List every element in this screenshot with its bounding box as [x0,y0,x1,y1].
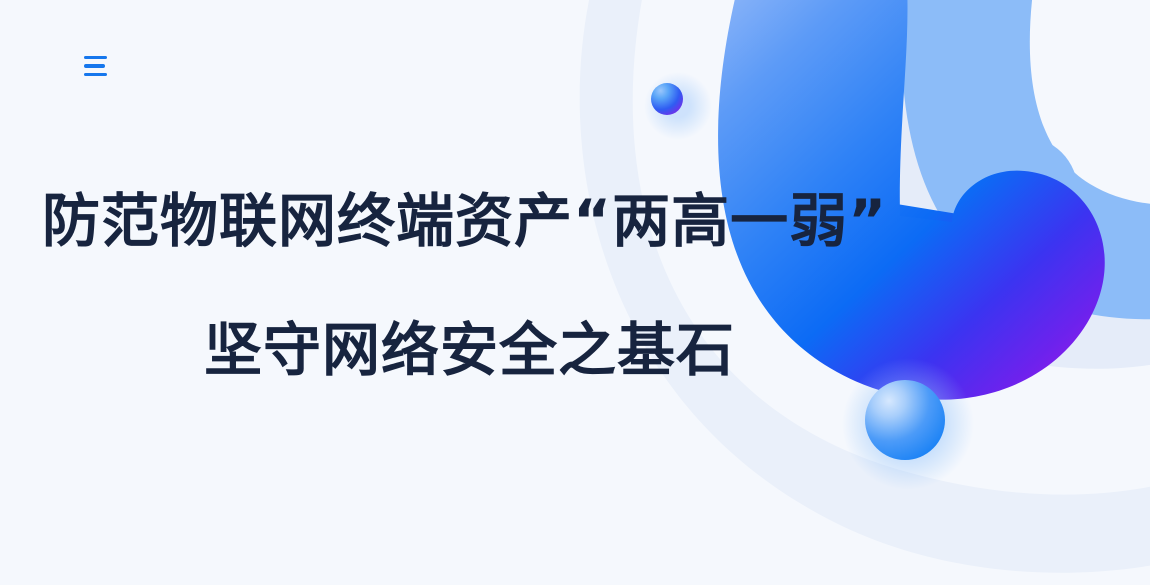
title-line-2: 坚守网络安全之基石 [0,315,880,386]
hamburger-bar-middle [84,64,105,68]
light-blue-wave-shape [901,0,1150,319]
hamburger-bar-top [84,56,107,60]
slide-canvas: 防范物联网终端资产“两高一弱” 坚守网络安全之基石 [0,0,1150,585]
hamburger-bar-bottom [84,73,107,77]
hamburger-menu-icon[interactable] [84,50,116,82]
small-gradient-sphere [644,72,712,140]
page-title: 防范物联网终端资产“两高一弱” 坚守网络安全之基石 [0,186,880,386]
title-line-1: 防范物联网终端资产“两高一弱” [0,186,880,257]
